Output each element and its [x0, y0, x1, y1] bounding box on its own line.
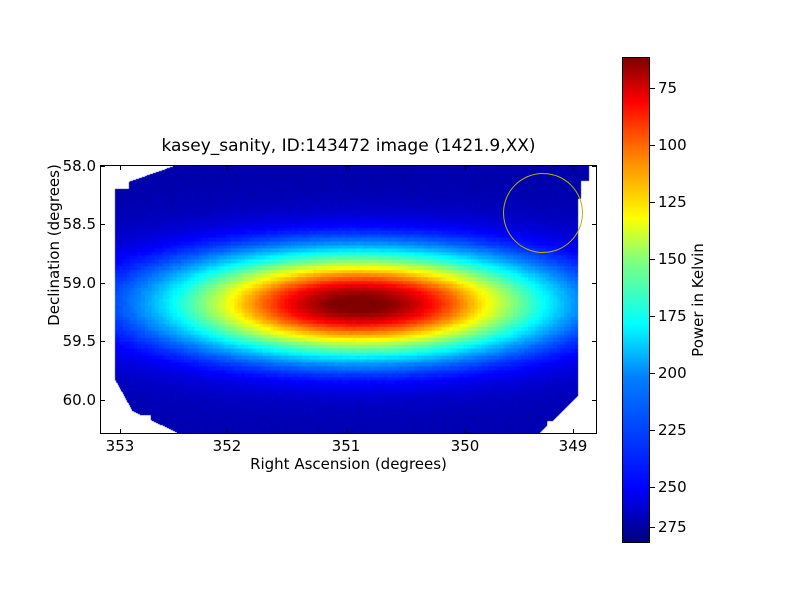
x-tick-mark	[465, 165, 466, 170]
y-tick-mark	[592, 341, 597, 342]
x-tick-mark	[573, 165, 574, 170]
colorbar-tick-mark	[650, 316, 655, 317]
y-tick-mark	[592, 283, 597, 284]
colorbar-tick-label: 150	[658, 250, 687, 268]
y-tick-mark	[592, 224, 597, 225]
beam-circle-annotation	[503, 173, 583, 253]
colorbar-tick-mark	[650, 430, 655, 431]
y-tick-mark	[100, 224, 105, 225]
x-tick-mark	[227, 165, 228, 170]
colorbar-label: Power in Kelvin	[689, 155, 707, 445]
x-tick-mark	[346, 165, 347, 170]
colorbar-tick-label: 175	[658, 307, 687, 325]
x-tick-mark	[120, 165, 121, 170]
y-tick-label: 59.0	[63, 274, 96, 292]
x-tick-label: 353	[90, 437, 150, 455]
colorbar-tick-label: 125	[658, 193, 687, 211]
colorbar-tick-mark	[650, 373, 655, 374]
colorbar-tick-label: 100	[658, 136, 687, 154]
colorbar-tick-label: 75	[658, 79, 677, 97]
colorbar-tick-mark	[650, 145, 655, 146]
colorbar-tick-label: 275	[658, 518, 687, 536]
y-tick-label: 58.0	[63, 157, 96, 175]
page-title: kasey_sanity, ID:143472 image (1421.9,XX…	[100, 136, 597, 156]
colorbar-tick-mark	[650, 259, 655, 260]
colorbar-tick-mark	[650, 88, 655, 89]
colorbar-tick-mark	[650, 487, 655, 488]
colorbar-tick-mark	[650, 202, 655, 203]
y-axis-label: Declination (degrees)	[45, 95, 63, 395]
x-axis-label: Right Ascension (degrees)	[100, 455, 597, 473]
y-tick-mark	[100, 166, 105, 167]
colorbar-tick-label: 225	[658, 421, 687, 439]
colorbar-tick-label: 200	[658, 364, 687, 382]
x-tick-label: 351	[316, 437, 376, 455]
x-tick-mark	[346, 429, 347, 434]
y-tick-mark	[100, 283, 105, 284]
x-tick-mark	[573, 429, 574, 434]
y-tick-mark	[592, 400, 597, 401]
colorbar-gradient[interactable]	[622, 57, 650, 543]
colorbar-tick-mark	[650, 527, 655, 528]
x-tick-label: 350	[435, 437, 495, 455]
y-tick-label: 58.5	[63, 215, 96, 233]
x-tick-mark	[227, 429, 228, 434]
x-tick-label: 352	[197, 437, 257, 455]
y-tick-mark	[100, 400, 105, 401]
x-tick-label: 349	[543, 437, 603, 455]
x-tick-mark	[465, 429, 466, 434]
x-tick-mark	[120, 429, 121, 434]
y-tick-mark	[100, 341, 105, 342]
figure-canvas: kasey_sanity, ID:143472 image (1421.9,XX…	[0, 0, 800, 600]
y-tick-label: 60.0	[63, 391, 96, 409]
y-tick-label: 59.5	[63, 332, 96, 350]
colorbar-tick-label: 250	[658, 478, 687, 496]
y-tick-mark	[592, 166, 597, 167]
sky-image-axes[interactable]	[100, 165, 597, 434]
